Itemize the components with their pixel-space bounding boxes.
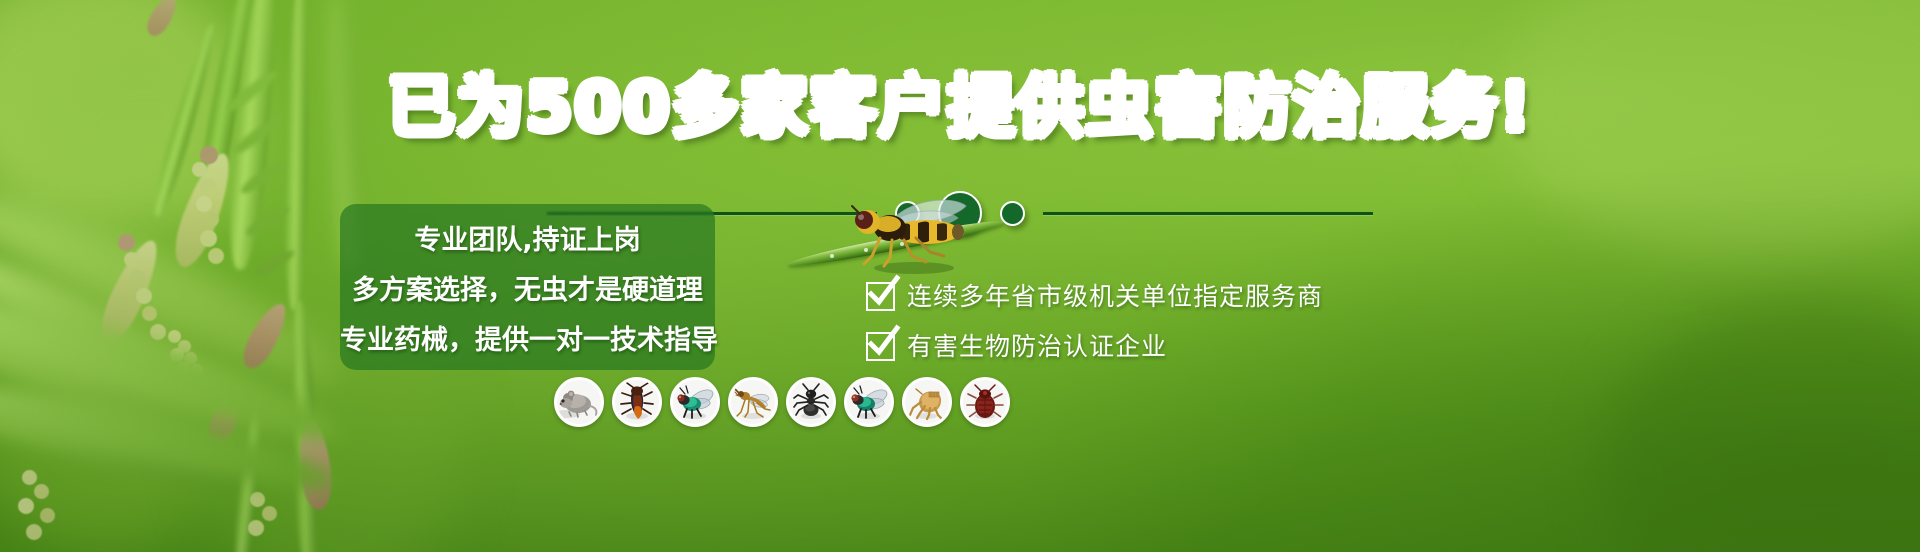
checklist-item-label: 有害生物防治认证企业 (907, 334, 1167, 359)
cockroach-icon (617, 382, 657, 422)
checklist-item-label: 连续多年省市级机关单位指定服务商 (907, 284, 1323, 309)
pest-icon-cockroach[interactable] (612, 377, 662, 427)
bokeh-blob (1600, 300, 1920, 552)
checklist-item: 有害生物防治认证企业 (866, 322, 1506, 370)
banner-headline-text: 已为500多家客户提供虫害防治服务! (388, 74, 1532, 141)
mosquito-icon (733, 382, 773, 422)
pest-type-icon-row (554, 377, 1010, 427)
credentials-checklist: 连续多年省市级机关单位指定服务商 有害生物防治认证企业 (866, 272, 1506, 370)
plant-catkin (167, 148, 240, 272)
blowfly-icon (675, 382, 715, 422)
plant-stem (787, 216, 1005, 271)
ant-icon (791, 382, 831, 422)
slogan-line-1: 专业团队,持证上岗 (340, 224, 715, 258)
pest-icon-ant[interactable] (786, 377, 836, 427)
decorative-divider (0, 196, 1920, 230)
slogan-line-2: 多方案选择，无虫才是硬道理 (340, 274, 715, 308)
pest-icon-blowfly-2[interactable] (844, 377, 894, 427)
slogan-line-3: 专业药械，提供一对一技术指导 (340, 324, 715, 358)
plant-leaf-blur (0, 330, 400, 552)
pest-control-hero-banner: 已为500多家客户提供虫害防治服务! (0, 0, 1920, 552)
checklist-item: 连续多年省市级机关单位指定服务商 (866, 272, 1506, 320)
blowfly-icon-2 (849, 382, 889, 422)
divider-rule-right (1043, 212, 1373, 215)
pest-icon-mosquito[interactable] (728, 377, 778, 427)
banner-headline: 已为500多家客户提供虫害防治服务! (0, 74, 1920, 141)
divider-dot-small-right (1000, 201, 1025, 226)
divider-dot-large (938, 191, 982, 235)
bedbug-icon (965, 382, 1005, 422)
slogan-panel: 专业团队,持证上岗 多方案选择，无虫才是硬道理 专业药械，提供一对一技术指导 (340, 204, 715, 370)
pest-icon-mouse[interactable] (554, 377, 604, 427)
bokeh-blob (0, 250, 240, 550)
divider-dot-small-left (895, 201, 920, 226)
checkbox-checked-icon (866, 282, 895, 311)
mouse-icon (559, 382, 599, 422)
plant-catkin (93, 234, 167, 348)
hoverfly-icon (842, 194, 972, 278)
checkbox-checked-icon (866, 332, 895, 361)
flea-icon (907, 382, 947, 422)
pest-icon-bedbug[interactable] (960, 377, 1010, 427)
pest-icon-flea[interactable] (902, 377, 952, 427)
pest-icon-blowfly[interactable] (670, 377, 720, 427)
